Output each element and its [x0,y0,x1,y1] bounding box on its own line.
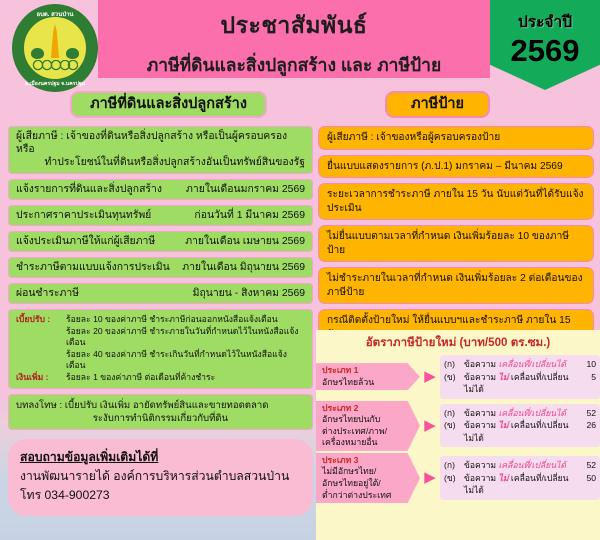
sign-tax-rate-table: อัตราภาษีป้ายใหม่ (บาท/500 ตร.ซม.) ประเภ… [316,330,600,540]
rate-line: (ก) ข้อความ เคลื่อนที่/เปลี่ยนได้ 52 [444,459,596,472]
sign-tax-row: ไม่ชำระภายในเวลาที่กำหนด เงินเพิ่มร้อยละ… [318,267,594,304]
rate-text: ข้อความ ไม่ เคลื่อนที่/เปลี่ยนไม่ได้ [464,419,578,444]
schedule-label: ประกาศราคาประเมินทุนทรัพย์ [16,209,194,222]
category-desc-line: ไม่มีอักษรไทย/ [322,466,416,478]
rate-emphasis: ไม่ [499,372,509,382]
land-schedule-row: ประกาศราคาประเมินทุนทรัพย์ ก่อนวันที่ 1 … [8,205,313,226]
rate-line: (ข) ข้อความ ไม่ เคลื่อนที่/เปลี่ยนไม่ได้… [444,419,596,444]
sign-tax-row: ยื่นแบบแสดงรายการ (ภ.ป.1) มกราคม – มีนาค… [318,155,594,179]
land-schedule-row: แจ้งรายการที่ดินและสิ่งปลูกสร้าง ภายในเด… [8,179,313,200]
rate-emphasis: เคลื่อนที่/เปลี่ยนได้ [499,460,567,470]
tree-right-icon [66,48,79,59]
seal-top-text: อบต. สวนป่าน [12,9,98,19]
sign-tax-row: ผู้เสียภาษี : เจ้าของหรือผู้ครอบครองป้าย [318,126,594,150]
schedule-label: ผ่อนชำระภาษี [16,287,193,300]
rate-emphasis: ไม่ [499,473,509,483]
land-schedule-row: ชำระภาษีตามแบบแจ้งการประเมิน ภายในเดือน … [8,257,313,278]
rate-table-title: อัตราภาษีป้ายใหม่ (บาท/500 ตร.ซม.) [316,330,600,355]
category-desc-line: ต่างประเทศ/ภาพ/ [322,426,416,438]
rate-values: (ก) ข้อความ เคลื่อนที่/เปลี่ยนได้ 52 (ข)… [440,404,600,448]
rate-prefix: ข้อความ [464,359,499,369]
rate-emphasis: ไม่ [499,420,509,430]
land-taxpayer-line2: ทำประโยชน์ในที่ดินหรือสิ่งปลูกสร้างอันเป… [16,156,305,169]
schedule-when: ภายในเดือน มิถุนายน 2569 [182,261,305,274]
rate-key: (ก) [444,459,464,472]
rate-values: (ก) ข้อความ เคลื่อนที่/เปลี่ยนได้ 10 (ข)… [440,355,600,399]
category-desc-line: ต่ำกว่าต่างประเทศ [322,490,416,502]
category-desc-line: อักษรไทยล้วน [322,377,416,389]
rate-line: (ข) ข้อความ ไม่ เคลื่อนที่/เปลี่ยนไม่ได้… [444,371,596,396]
rate-line: (ข) ข้อความ ไม่ เคลื่อนที่/เปลี่ยนไม่ได้… [444,472,596,497]
category-heading: ประเภท 2 [322,403,416,415]
rate-line: (ก) ข้อความ เคลื่อนที่/เปลี่ยนได้ 10 [444,358,596,371]
category-heading: ประเภท 3 [322,455,416,467]
rate-category-label: ประเภท 1 อักษรไทยล้วน [316,363,420,390]
sign-tax-row: ไม่ยื่นแบบตามเวลาที่กำหนด เงินเพิ่มร้อยล… [318,225,594,262]
page-title: ประชาสัมพันธ์ [98,8,490,44]
punishment-line2: ระงับการทำนิติกรรมเกี่ยวกับที่ดิน [16,412,305,425]
arches-icon [32,60,78,71]
rate-text: ข้อความ เคลื่อนที่/เปลี่ยนได้ [464,459,578,472]
rate-emphasis: เคลื่อนที่/เปลี่ยนได้ [499,359,567,369]
surcharge-line: ร้อยละ 1 ของค่าภาษี ต่อเดือนที่ค้างชำระ [66,372,305,384]
rate-value: 26 [578,419,596,432]
seal-bottom-text: อ.เมืองนครปฐม จ.นครปฐม [12,80,98,88]
schedule-label: ชำระภาษีตามแบบแจ้งการประเมิน [16,261,182,274]
sign-tax-section-title: ภาษีป้าย [385,91,490,118]
rate-value: 50 [578,472,596,485]
rate-table-row: ประเภท 3 ไม่มีอักษรไทย/ อักษรไทยอยู่ใต้/… [316,453,600,503]
category-desc-line: อักษรไทยปนกับ [322,414,416,426]
rate-text: ข้อความ เคลื่อนที่/เปลี่ยนได้ [464,407,578,420]
rate-key: (ก) [444,407,464,420]
land-schedule-row: ผ่อนชำระภาษี มิถุนายน - สิงหาคม 2569 [8,283,313,304]
rate-prefix: ข้อความ [464,408,499,418]
rate-key: (ข) [444,371,464,384]
rate-prefix: ข้อความ [464,473,499,483]
poster-header-band: ประชาสัมพันธ์ ภาษีที่ดินและสิ่งปลูกสร้าง… [98,0,490,78]
land-tax-column: ผู้เสียภาษี : เจ้าของที่ดินหรือสิ่งปลูกส… [8,126,313,516]
schedule-label: แจ้งรายการที่ดินและสิ่งปลูกสร้าง [16,183,186,196]
rate-key: (ข) [444,472,464,485]
year-value: 2569 [490,35,600,67]
punishment-block: บทลงโทษ : เบี้ยปรับ เงินเพิ่ม อายัดทรัพย… [8,394,313,430]
right-arrow-icon: ▶ [420,419,440,433]
schedule-when: มิถุนายน - สิงหาคม 2569 [193,287,305,300]
fine-line: ร้อยละ 10 ของค่าภาษี ชำระภาษีก่อนออกหนัง… [66,314,305,326]
page-subtitle: ภาษีที่ดินและสิ่งปลูกสร้าง และ ภาษีป้าย [98,51,490,79]
fine-line: ร้อยละ 40 ของค่าภาษี ชำระเกินวันที่กำหนด… [66,349,305,372]
surcharge-label: เงินเพิ่ม : [16,372,66,384]
rate-values: (ก) ข้อความ เคลื่อนที่/เปลี่ยนได้ 52 (ข)… [440,456,600,500]
rate-value: 52 [578,459,596,472]
infographic-poster: อบต. สวนป่าน อ.เมืองนครปฐม จ.นครปฐม ประช… [0,0,600,540]
rate-key: (ข) [444,419,464,432]
rate-category-label: ประเภท 2 อักษรไทยปนกับ ต่างประเทศ/ภาพ/ เ… [316,401,420,451]
contact-block: สอบถามข้อมูลเพิ่มเติมได้ที่ งานพัฒนารายไ… [8,439,313,516]
schedule-when: ภายในเดือน เมษายน 2569 [185,235,305,248]
fine-label: เบี้ยปรับ : [16,314,66,372]
rate-emphasis: เคลื่อนที่/เปลี่ยนได้ [499,408,567,418]
rate-prefix: ข้อความ [464,420,499,430]
rate-line: (ก) ข้อความ เคลื่อนที่/เปลี่ยนได้ 52 [444,407,596,420]
rate-key: (ก) [444,358,464,371]
schedule-when: ภายในเดือนมกราคม 2569 [186,183,305,196]
sign-tax-column: ผู้เสียภาษี : เจ้าของหรือผู้ครอบครองป้าย… [318,126,594,365]
right-arrow-icon: ▶ [420,471,440,485]
rate-table-row: ประเภท 2 อักษรไทยปนกับ ต่างประเทศ/ภาพ/ เ… [316,401,600,451]
year-badge: ประจำปี 2569 [490,0,600,90]
rate-prefix: ข้อความ [464,460,499,470]
fine-line: ร้อยละ 20 ของค่าภาษี ชำระภายในวันที่กำหน… [66,326,305,349]
rate-text: ข้อความ เคลื่อนที่/เปลี่ยนได้ [464,358,578,371]
land-schedule-row: แจ้งประเมินภาษีให้แก่ผู้เสียภาษี ภายในเด… [8,231,313,252]
rate-text: ข้อความ ไม่ เคลื่อนที่/เปลี่ยนไม่ได้ [464,472,578,497]
punishment-line1: บทลงโทษ : เบี้ยปรับ เงินเพิ่ม อายัดทรัพย… [16,399,305,412]
contact-phone[interactable]: โทร 034-900273 [20,486,301,505]
penalty-block: เบี้ยปรับ : ร้อยละ 10 ของค่าภาษี ชำระภาษ… [8,309,313,389]
category-desc-line: เครื่องหมายอื่น [322,437,416,449]
land-tax-section-title: ภาษีที่ดินและสิ่งปลูกสร้าง [70,91,267,118]
year-label: ประจำปี [490,9,600,34]
contact-heading: สอบถามข้อมูลเพิ่มเติมได้ที่ [20,448,301,467]
rate-value: 5 [578,371,596,384]
right-arrow-icon: ▶ [420,370,440,384]
contact-office: งานพัฒนารายได้ องค์การบริหารส่วนตำบลสวนป… [20,467,301,486]
category-heading: ประเภท 1 [322,365,416,377]
tree-left-icon [31,48,44,59]
rate-text: ข้อความ ไม่ เคลื่อนที่/เปลี่ยนไม่ได้ [464,371,578,396]
sign-tax-row: ระยะเวลาการชำระภาษี ภายใน 15 วัน นับแต่ว… [318,183,594,220]
rate-category-label: ประเภท 3 ไม่มีอักษรไทย/ อักษรไทยอยู่ใต้/… [316,453,420,503]
land-taxpayer-row: ผู้เสียภาษี : เจ้าของที่ดินหรือสิ่งปลูกส… [8,126,313,174]
rate-value: 52 [578,407,596,420]
rate-value: 10 [578,358,596,371]
category-desc-line: อักษรไทยอยู่ใต้/ [322,478,416,490]
schedule-label: แจ้งประเมินภาษีให้แก่ผู้เสียภาษี [16,235,185,248]
rate-table-row: ประเภท 1 อักษรไทยล้วน ▶ (ก) ข้อความ เคลื… [316,355,600,399]
municipality-seal-logo: อบต. สวนป่าน อ.เมืองนครปฐม จ.นครปฐม [12,4,98,92]
land-taxpayer-line1: ผู้เสียภาษี : เจ้าของที่ดินหรือสิ่งปลูกส… [16,130,305,156]
rate-prefix: ข้อความ [464,372,499,382]
schedule-when: ก่อนวันที่ 1 มีนาคม 2569 [194,209,305,222]
